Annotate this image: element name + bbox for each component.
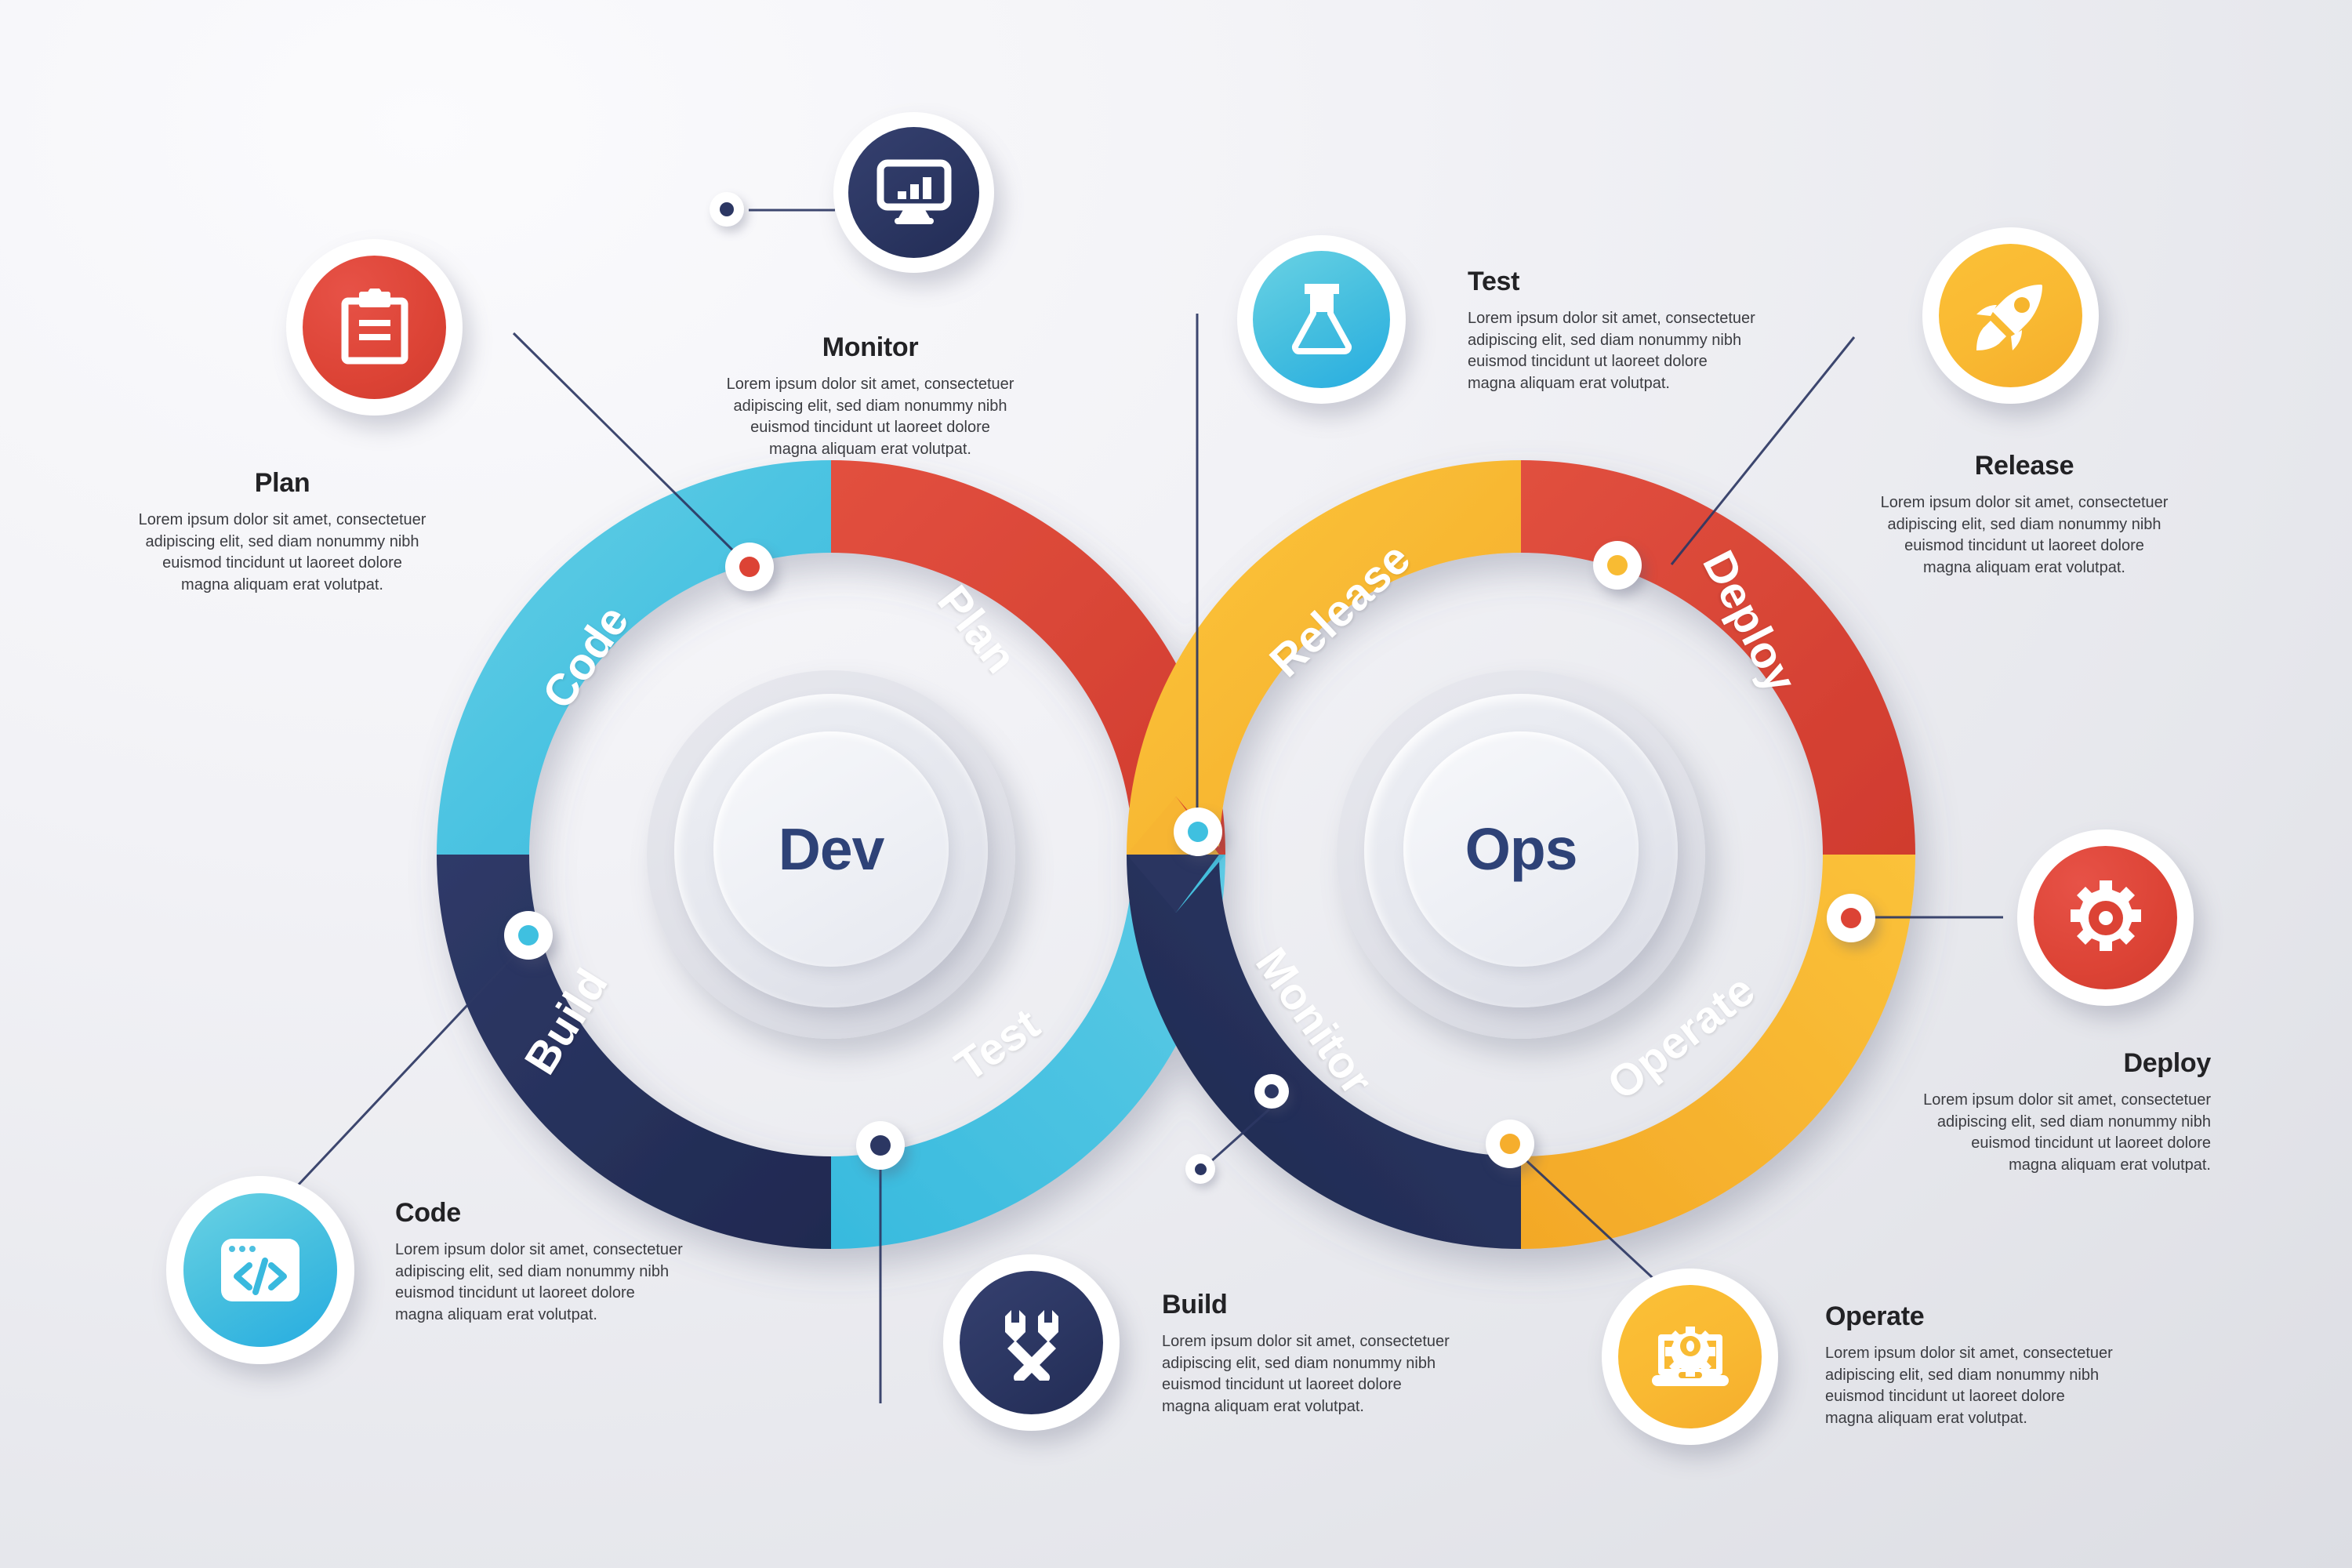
pin-plan[interactable] [725,543,774,591]
pin-build[interactable] [856,1121,905,1170]
pin-deploy[interactable] [1827,894,1875,942]
callout-monitor-body: Lorem ipsum dolor sit amet, consectetuer… [690,374,1051,460]
pin-monitor-ops[interactable] [1254,1074,1289,1109]
callout-code-title: Code [395,1198,724,1229]
callout-plan: Plan Lorem ipsum dolor sit amet, consect… [118,468,447,596]
callout-monitor: Monitor Lorem ipsum dolor sit amet, cons… [690,332,1051,460]
dev-hub-label: Dev [779,820,884,879]
segment-crossing-test [1133,855,1225,913]
callout-release-title: Release [1844,451,2205,481]
leader-operate [1509,1145,1674,1298]
segment-label-release[interactable]: Release [1260,532,1421,688]
callout-plan-title: Plan [118,468,447,499]
dev-hub-mid-disc: Dev [674,694,988,1007]
callout-operate-body: Lorem ipsum dolor sit amet, consectetuer… [1825,1343,2154,1429]
pin-code[interactable] [504,911,553,960]
callout-deploy: Deploy Lorem ipsum dolor sit amet, conse… [1850,1048,2211,1176]
callout-release: Release Lorem ipsum dolor sit amet, cons… [1844,451,2205,579]
segment-crossing-monitor [1127,855,1219,913]
callout-plan-body: Lorem ipsum dolor sit amet, consectetuer… [118,510,447,596]
leader-code [259,935,533,1227]
rocket-icon [1939,244,2082,387]
callout-deploy-body: Lorem ipsum dolor sit amet, consectetuer… [1850,1090,2211,1176]
deploy-badge[interactable] [2017,829,2194,1006]
callout-deploy-title: Deploy [1850,1048,2211,1079]
pin-release[interactable] [1593,541,1642,590]
ops-hub-inner-disc: Ops [1403,731,1639,967]
ops-hub-outer-disc: Ops [1337,670,1705,1039]
clipboard-icon [303,256,446,399]
dev-hub-inner-disc: Dev [713,731,949,967]
dev-hub-outer-disc: Dev [647,670,1015,1039]
callout-build: Build Lorem ipsum dolor sit amet, consec… [1162,1290,1491,1417]
callout-build-body: Lorem ipsum dolor sit amet, consectetuer… [1162,1331,1491,1417]
release-badge[interactable] [1922,227,2099,404]
callout-build-title: Build [1162,1290,1491,1320]
callout-operate: Operate Lorem ipsum dolor sit amet, cons… [1825,1301,2154,1429]
segment-label-code[interactable]: Code [532,596,640,718]
gear-icon [2034,846,2177,989]
segment-label-plan[interactable]: Plan [927,575,1027,683]
ops-hub-label: Ops [1465,820,1577,879]
plan-badge[interactable] [286,239,463,416]
segment-label-deploy[interactable]: Deploy [1692,543,1806,701]
callout-code: Code Lorem ipsum dolor sit amet, consect… [395,1198,724,1326]
callout-release-body: Lorem ipsum dolor sit amet, consectetuer… [1844,492,2205,579]
callout-monitor-title: Monitor [690,332,1051,363]
segment-label-build[interactable]: Build [514,960,619,1083]
callout-test: Test Lorem ipsum dolor sit amet, consect… [1468,267,1805,394]
monitor-chart-icon [848,127,979,258]
pin-test[interactable] [1174,808,1222,856]
pin-monitor-ops-tail[interactable] [1185,1154,1215,1184]
test-badge[interactable] [1237,235,1406,404]
pin-monitor-left[interactable] [710,192,744,227]
code-badge[interactable] [166,1176,354,1364]
callout-test-title: Test [1468,267,1805,297]
flask-icon [1253,251,1390,388]
segment-label-test[interactable]: Test [946,998,1049,1092]
wrench-screwdriver-icon [960,1271,1103,1414]
callout-code-body: Lorem ipsum dolor sit amet, consectetuer… [395,1240,724,1326]
build-badge[interactable] [943,1254,1120,1431]
laptop-gear-icon [1618,1285,1762,1428]
ops-hub-mid-disc: Ops [1364,694,1678,1007]
pin-operate[interactable] [1486,1120,1534,1168]
callout-test-body: Lorem ipsum dolor sit amet, consectetuer… [1468,308,1805,394]
code-window-icon [183,1193,337,1347]
monitor-badge[interactable] [833,112,994,273]
operate-badge[interactable] [1602,1269,1778,1445]
leader-monitor-ops [1203,1102,1278,1168]
callout-operate-title: Operate [1825,1301,2154,1332]
